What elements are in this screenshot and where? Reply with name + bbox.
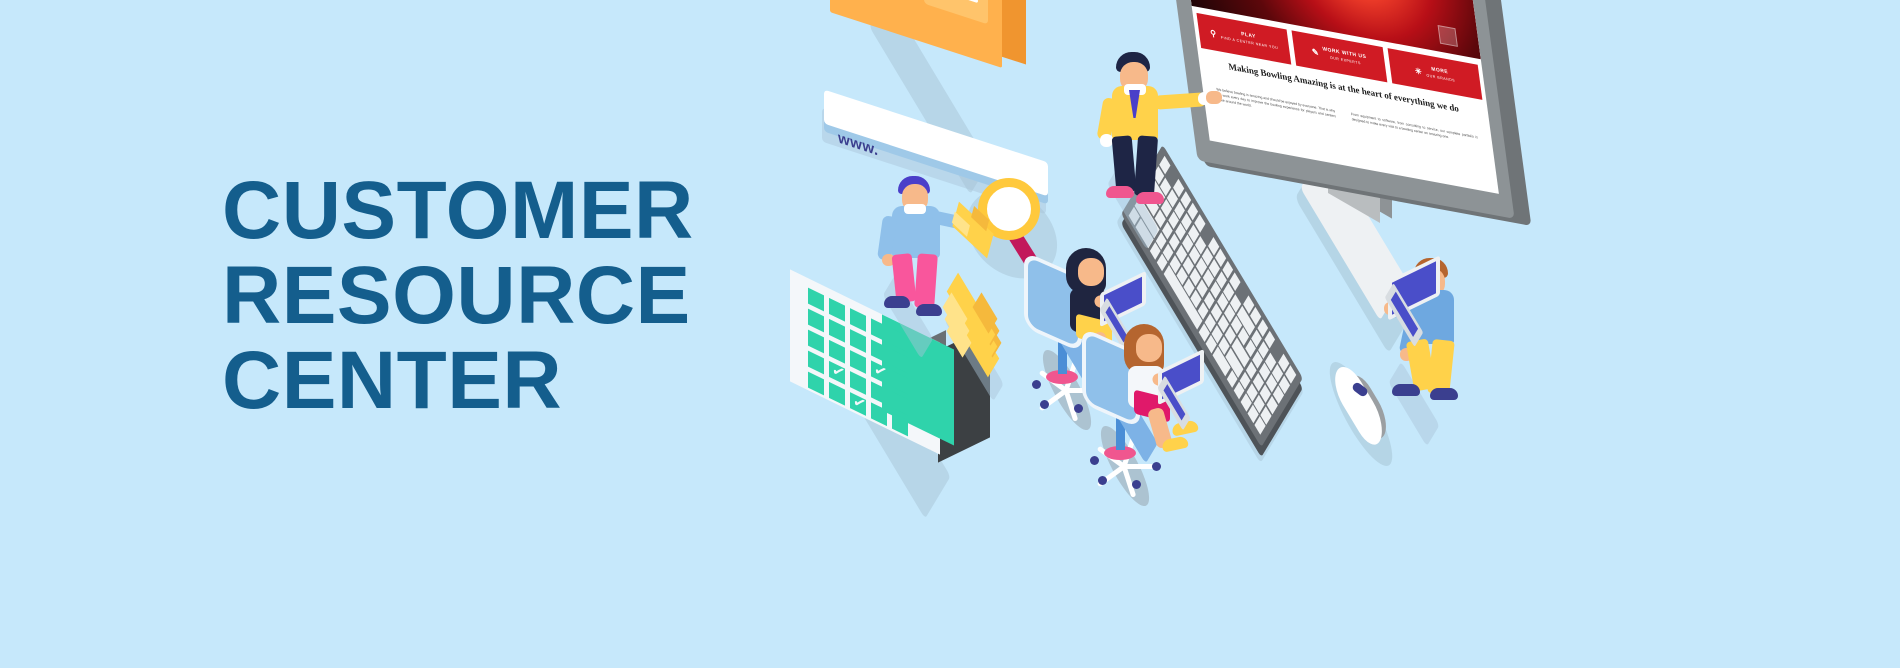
bowling-pin-icon: ⚲	[1210, 29, 1217, 37]
hero-illustration: www. QUBICAAMF BOWLING	[780, 0, 1900, 668]
handshake-icon: ✎	[1311, 48, 1319, 57]
star-icon: ✳	[1414, 67, 1422, 76]
folder-side	[998, 0, 1026, 65]
website-body-text-right: From equipment to software, from consult…	[1351, 112, 1479, 146]
website-body-text-left: We believe bowling is amazing and should…	[1216, 87, 1337, 125]
shoe-right	[916, 304, 942, 316]
head	[1136, 334, 1162, 362]
shoe-left	[1106, 186, 1134, 198]
page-title: CUSTOMER RESOURCE CENTER	[222, 168, 862, 423]
head	[1078, 258, 1104, 286]
customer-resource-center-banner: CUSTOMER RESOURCE CENTER	[0, 0, 1900, 668]
cta-sublabel: OUR BRANDS	[1426, 72, 1456, 85]
shoe-left	[884, 296, 910, 308]
person-envelope-boy	[876, 176, 986, 346]
shoe-left	[1392, 384, 1420, 396]
person-seated-woman-2	[1076, 322, 1226, 512]
leg-left	[1112, 135, 1137, 193]
page-title-line-2: RESOURCE	[222, 253, 862, 338]
leg-right	[914, 253, 938, 308]
page-title-line-1: CUSTOMER	[222, 168, 862, 253]
page-title-line-3: CENTER	[222, 338, 862, 423]
collar	[904, 204, 926, 214]
leg-right	[1134, 135, 1158, 196]
leg-right	[1427, 339, 1455, 395]
hand-right	[1206, 91, 1222, 104]
shoe-right	[1430, 388, 1458, 400]
shoe-right	[1136, 192, 1164, 204]
hero-play-button-right[interactable]	[1438, 25, 1458, 47]
person-laptop-man	[1372, 258, 1502, 438]
person-pointing-man	[1098, 52, 1218, 232]
